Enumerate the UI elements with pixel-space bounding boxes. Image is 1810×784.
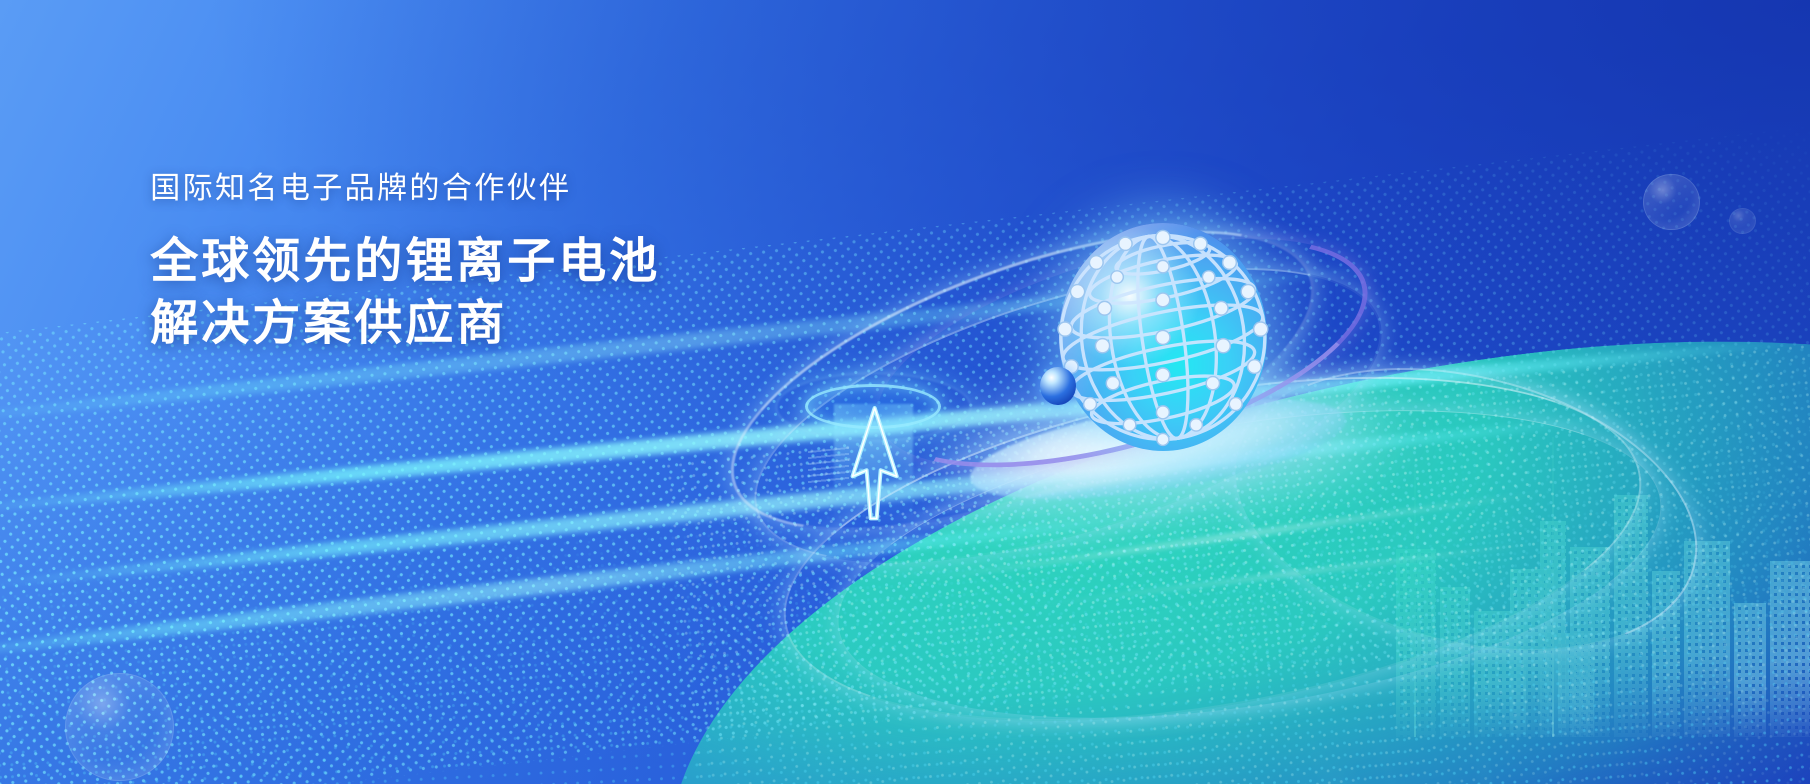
globe-node-sphere: [1040, 367, 1075, 406]
arrow-cursor-icon: [838, 402, 911, 522]
banner-headline-line-2: 解决方案供应商: [150, 293, 946, 355]
hero-banner: 国际知名电子品牌的合作伙伴 全球领先的锂离子电池 解决方案供应商: [0, 0, 1810, 784]
banner-headline-line-1: 全球领先的锂离子电池: [150, 231, 946, 293]
translucent-bubble: [1643, 174, 1699, 230]
banner-eyebrow: 国际知名电子品牌的合作伙伴: [150, 169, 946, 210]
portal-stripes: [808, 447, 849, 484]
globe-wireframe-svg: [1038, 201, 1288, 474]
translucent-bubble: [1729, 208, 1756, 235]
translucent-bubble: [65, 673, 174, 781]
banner-copy: 国际知名电子品牌的合作伙伴 全球领先的锂离子电池 解决方案供应商: [150, 169, 946, 356]
wireframe-globe: [1059, 223, 1267, 450]
upward-cursor-arrow: [805, 384, 941, 509]
